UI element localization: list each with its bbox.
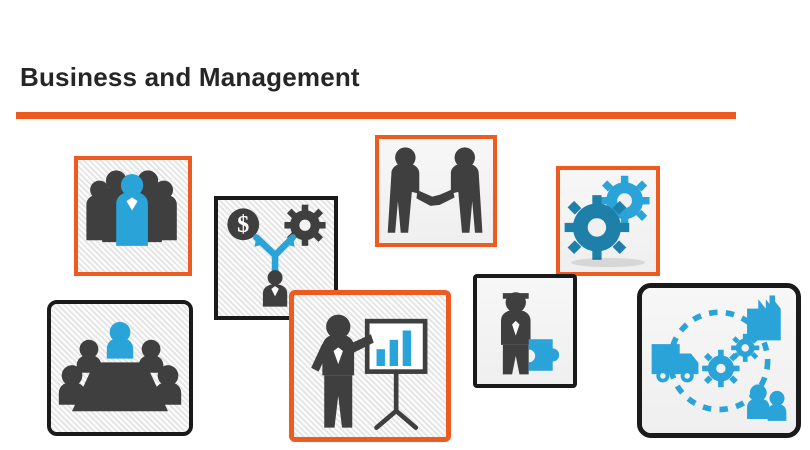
- presenter-bar-chart-icon: [294, 295, 446, 437]
- handshake-icon: [379, 139, 493, 243]
- supply-chain-icon: [642, 288, 796, 433]
- meeting-table-card[interactable]: [47, 300, 193, 436]
- businessman-puzzle-icon: [477, 278, 573, 384]
- people-group-icon: [78, 160, 188, 272]
- gears-card[interactable]: [556, 166, 660, 276]
- gears-icon: [560, 170, 656, 272]
- puzzle-solution-card[interactable]: [473, 274, 577, 388]
- presentation-chart-card[interactable]: [289, 290, 451, 442]
- logistics-network-card[interactable]: [637, 283, 801, 438]
- slide-canvas: Business and Management: [0, 0, 810, 450]
- svg-text:$: $: [237, 211, 249, 238]
- team-group-card[interactable]: [74, 156, 192, 276]
- handshake-card[interactable]: [375, 135, 497, 247]
- title-underline-rule: [16, 112, 736, 119]
- meeting-table-icon: [51, 304, 189, 432]
- page-title: Business and Management: [20, 62, 360, 93]
